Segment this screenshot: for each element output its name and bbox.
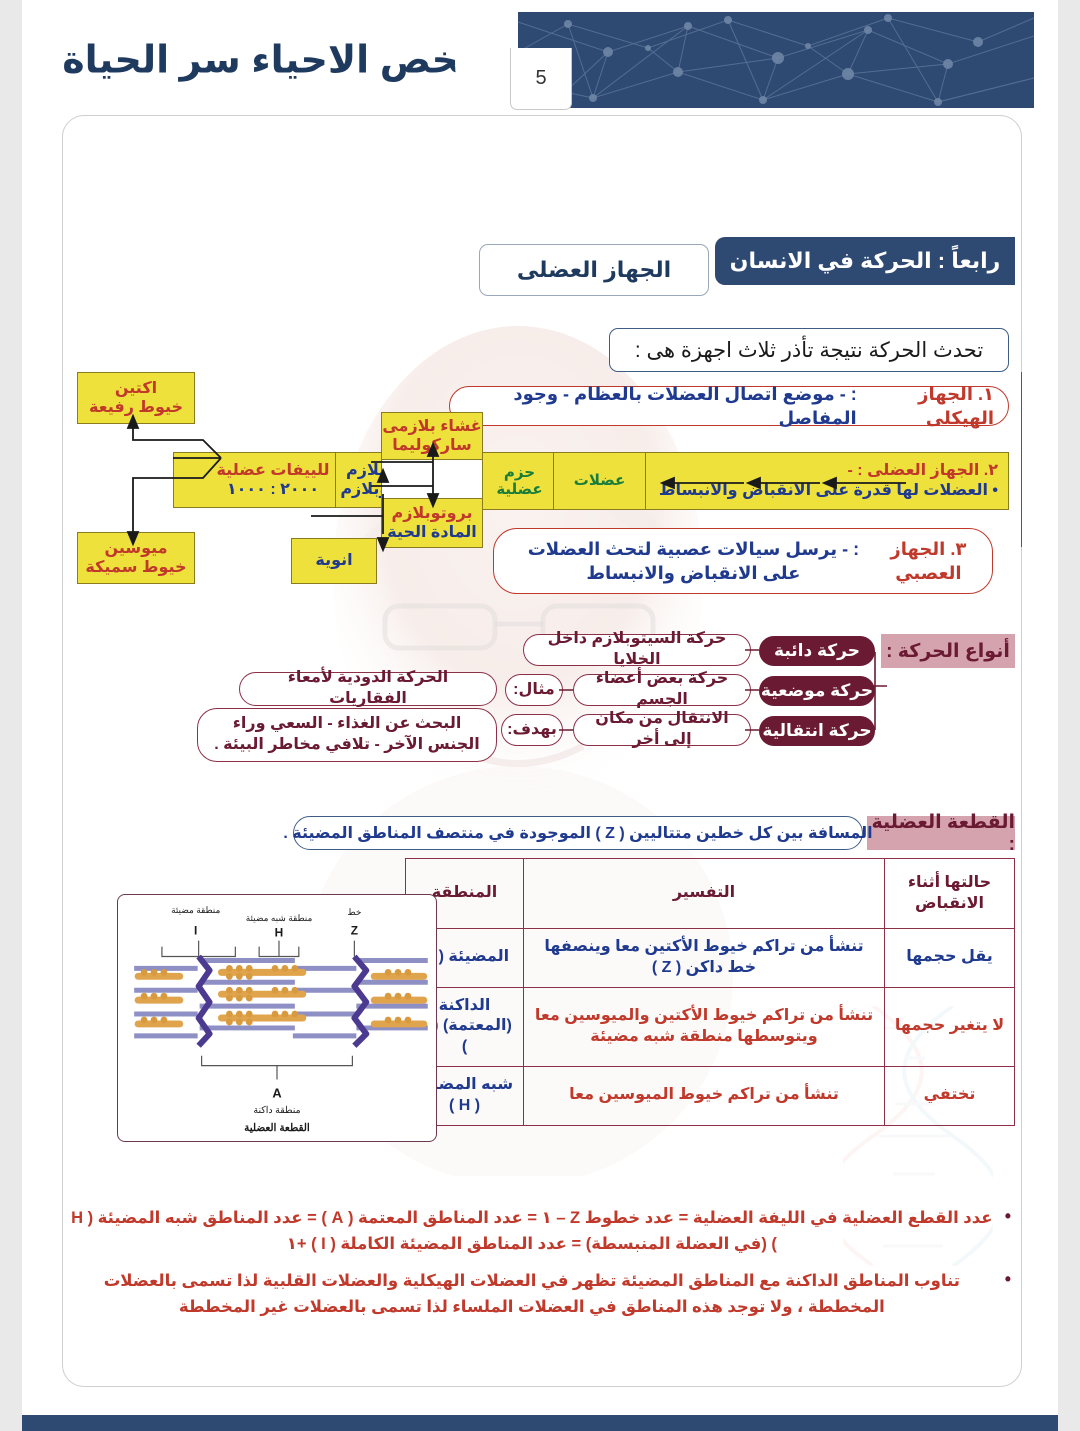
sarcomere-definition: المسافة بين كل خطين متتاليين ( Z ) الموج… [293,816,863,850]
th-state: حالتها أثناء الانقباض [885,859,1015,929]
bottom-bar [22,1415,1058,1431]
movement-type-continuous: حركة دائبة [759,636,875,666]
table-row: يقل حجمها تنشأ من تراكم خيوط الأكتين معا… [406,929,1015,988]
system-item-nervous: ٣. الجهاز العصبي : - يرسل سيالات عصبية ل… [493,528,993,594]
cell-state: لا يتغير حجمها [885,987,1015,1066]
movement-detail-local: الحركة الدودية لأمعاء الفقاريات [239,672,497,706]
cell-explanation: تنشأ من تراكم خيوط الميوسين معا [524,1066,885,1125]
systems-connector-line [1021,372,1022,547]
flow-box-myosin: ميوسين خيوط سميكة [77,532,195,584]
note-text: تناوب المناطق الداكنة مع المناطق المضيئة… [67,1269,997,1320]
note-item: • عدد القطع العضلية في الليفة العضلية = … [67,1206,1011,1257]
cell-state: تختفي [885,1066,1015,1125]
system-item-muscular: ٢. الجهاز العضلى : - • العضلات لها قدرة … [409,452,1009,510]
movement-type-locomotive: حركة انتقالية [759,716,875,746]
note-item: • تناوب المناطق الداكنة مع المناطق المضي… [67,1269,1011,1320]
system-label: ١. الجهاز الهيكلى [857,382,994,431]
movement-link-lines [745,636,759,752]
table-row: تختفي تنشأ من تراكم خيوط الميوسين معا شب… [406,1066,1015,1125]
diagram-label-a: A [272,1085,281,1100]
content-card: رابعاً : الحركة في الانسان الجهاز العضلى… [62,115,1022,1387]
diagram-label-z: Z [351,924,358,938]
diagram-filaments [134,957,428,1046]
sarcomere-heading: القطعة العضلية : [867,816,1015,850]
cell-state: يقل حجمها [885,929,1015,988]
note-text: عدد القطع العضلية في الليفة العضلية = عد… [67,1206,997,1257]
movement-type-local: حركة موضعية [759,676,875,706]
diagram-bracket-bottom [202,1056,353,1080]
bullet-icon: • [1005,1206,1011,1228]
diagram-label-z-top: خط [347,907,361,917]
notes-list: • عدد القطع العضلية في الليفة العضلية = … [67,1206,1011,1332]
bullet-icon: • [1005,1269,1011,1291]
title-swoosh-shape: ملخص الاحياء سر الحياة [48,12,518,108]
diagram-label-i-top: منطقة مضيئة [171,905,220,915]
diagram-label-h: H [275,926,284,940]
movement-tag-example: مثال: [505,674,563,706]
cell-explanation: تنشأ من تراكم خيوط الأكتين معا وينصفها خ… [524,929,885,988]
diagram-label-h-top: منطقة شبه مضيئة [246,913,313,923]
page-number: 5 [535,67,546,90]
movement-detail-locomotive: البحث عن الغذاء - السعي وراء الجنس الآخر… [197,708,497,762]
document-title: ملخص الاحياء سر الحياة [62,38,498,83]
flow-box-protoplasm: بروتوبلازم المادة الحية [381,498,483,548]
movement-tag-purpose: بهدف: [501,714,563,746]
system-label: ٣. الجهاز العصبي [879,537,978,586]
system-item-skeletal: ١. الجهاز الهيكلى : - موضع اتصال العضلات… [449,386,1009,426]
chain-cell-muscles: عضلات [554,453,646,509]
flow-box-sarcolemma: غشاء بلازمى ساركوليما [381,412,483,460]
cell-explanation: تنشأ من تراكم خيوط الأكتين والميوسين معا… [524,987,885,1066]
diagram-caption: القطعة العضلية [244,1123,310,1134]
section-title: رابعاً : الحركة في الانسان [715,237,1015,285]
th-explanation: التفسير [524,859,885,929]
sarcomere-diagram: منطقة مضيئة I منطقة شبه مضيئة H خط Z [117,894,437,1142]
movement-tag-link-lines [559,676,573,756]
diagram-label-i: I [194,924,197,938]
flow-divider [381,460,483,498]
system-text: : - موضع اتصال العضلات بالعظام - وجود ال… [464,382,857,431]
page-number-tab: 5 [510,48,572,110]
movement-desc-locomotive: الانتقال من مكان إلى أخر [573,714,751,746]
intro-statement: تحدث الحركة نتيجة تأذر ثلاث اجهزة هى : [609,328,1009,372]
page-sheet: ملخص الاحياء سر الحياة 5 [22,0,1058,1431]
movement-desc-local: حركة بعض أعضاء الجسم [573,674,751,706]
sarcomere-table: حالتها أثناء الانقباض التفسير المنطقة يق… [405,858,1015,1126]
flow-box-actin: اكتين خيوط رفيعة [77,372,195,424]
subsection-title: الجهاز العضلى [479,244,709,296]
table-header-row: حالتها أثناء الانقباض التفسير المنطقة [406,859,1015,929]
chain-arrows [660,475,910,491]
diagram-brackets-top [162,941,354,957]
table-row: لا يتغير حجمها تنشأ من تراكم خيوط الأكتي… [406,987,1015,1066]
chain-cell-bundles: حزم عضلية [486,453,554,509]
system-text: : - يرسل سيالات عصبية لتحث العضلات على ا… [508,537,879,586]
movement-types-heading: أنواع الحركة : [881,634,1015,668]
diagram-label-a-bottom: منطقة داكنة [253,1104,300,1115]
flow-box-nuclei: انوية [291,538,377,584]
movement-desc-continuous: حركة السيتوبلازم داخل الخلايا [523,634,751,666]
